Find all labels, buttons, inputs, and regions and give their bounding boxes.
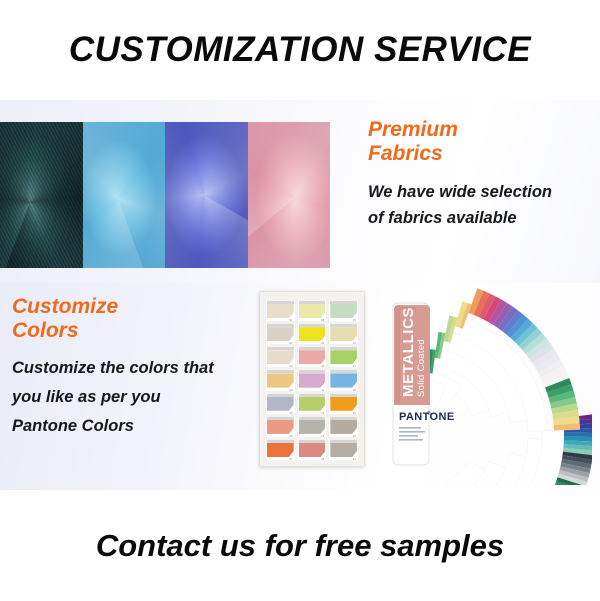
color-chip-code: 15 (353, 319, 356, 322)
customize-colors-heading-line2: Colors (12, 319, 262, 343)
color-chip-code: 21 (353, 458, 356, 461)
color-chip-code: 16 (353, 342, 356, 345)
color-chip-fill (299, 397, 326, 411)
color-chip-fill (330, 373, 357, 387)
color-chip-tab (330, 324, 357, 327)
color-chip-tab (267, 440, 294, 443)
color-chip-code: 17 (353, 365, 356, 368)
color-chip-code: 19 (353, 412, 356, 415)
color-chip[interactable]: 16 (329, 324, 358, 344)
color-chip[interactable]: 08 (298, 301, 327, 321)
color-chip-fill (299, 350, 326, 364)
color-chip[interactable]: 21 (329, 440, 358, 460)
color-chip-tab (267, 370, 294, 373)
color-chip-code: 01 (290, 319, 293, 322)
color-chip[interactable]: 06 (266, 417, 295, 437)
dark-teal-fabric-image (0, 122, 83, 268)
color-chip-fill (299, 420, 326, 434)
page-title: CUSTOMIZATION SERVICE (69, 30, 531, 70)
color-chip-code: 04 (290, 389, 293, 392)
fabric-swatch-strip (0, 122, 330, 268)
color-chip-fill (330, 304, 357, 318)
color-chip-fill (267, 443, 294, 457)
color-chip-tab (267, 324, 294, 327)
color-chip-tab (299, 301, 326, 304)
light-blue-fabric-image (83, 122, 166, 268)
pantone-fan-deck: METALLICS Solid Coated PANTONE ® PANTONE (378, 285, 592, 485)
color-chip[interactable]: 12 (298, 394, 327, 414)
page-footer: Contact us for free samples (0, 490, 600, 601)
pantone-color-card: 0108150209160310170411180512190613200714… (259, 291, 365, 467)
color-chip-tab (267, 394, 294, 397)
page-header: CUSTOMIZATION SERVICE (0, 0, 600, 100)
color-chip-code: 09 (321, 342, 324, 345)
premium-fabrics-body-line2: of fabrics available (368, 205, 592, 232)
customize-colors-body: Customize the colors that you like as pe… (12, 354, 262, 442)
premium-fabrics-panel: Premium Fabrics We have wide selection o… (0, 100, 600, 283)
color-chip[interactable]: 17 (329, 347, 358, 367)
color-chip-tab (330, 417, 357, 420)
color-chip[interactable]: 14 (298, 440, 327, 460)
color-chip-code: 13 (321, 435, 324, 438)
color-chip-code: 05 (290, 412, 293, 415)
fan-deck-cover-title: METALLICS (400, 307, 417, 397)
fan-deck-cover-code: PANTONE (400, 307, 417, 311)
color-chip-fill (267, 350, 294, 364)
contact-cta-text: Contact us for free samples (96, 528, 504, 564)
color-chip-code: 02 (290, 342, 293, 345)
color-chip-fill (299, 304, 326, 318)
color-chip-fill (330, 397, 357, 411)
color-chip-tab (330, 440, 357, 443)
color-chip-fill (330, 420, 357, 434)
color-chip-tab (299, 347, 326, 350)
color-chip[interactable]: 07 (266, 440, 295, 460)
fan-deck-brand-mark: ® (427, 410, 431, 417)
color-chip-tab (299, 324, 326, 327)
color-chip-tab (299, 394, 326, 397)
color-chip[interactable]: 10 (298, 347, 327, 367)
color-chip-tab (299, 370, 326, 373)
color-chip-tab (267, 347, 294, 350)
color-chip-tab (267, 417, 294, 420)
color-chip-fill (299, 373, 326, 387)
color-chip-fill (267, 397, 294, 411)
color-chip[interactable]: 04 (266, 370, 295, 390)
premium-fabrics-heading: Premium Fabrics (368, 118, 592, 167)
color-chip-fill (299, 443, 326, 457)
color-chip-code: 11 (321, 389, 324, 392)
color-chip-tab (267, 301, 294, 304)
color-chip-fill (267, 327, 294, 341)
premium-fabrics-heading-line1: Premium (368, 118, 592, 142)
color-chip-tab (330, 301, 357, 304)
color-chip[interactable]: 15 (329, 301, 358, 321)
color-chip-fill (267, 304, 294, 318)
color-chip[interactable]: 01 (266, 301, 295, 321)
premium-fabrics-body: We have wide selection of fabrics availa… (368, 179, 592, 232)
color-chip[interactable]: 19 (329, 394, 358, 414)
customize-colors-body-line3: Pantone Colors (12, 412, 262, 441)
color-chip-tab (330, 370, 357, 373)
color-chip[interactable]: 09 (298, 324, 327, 344)
color-chip-tab (299, 417, 326, 420)
color-chip[interactable]: 13 (298, 417, 327, 437)
color-chip-tab (330, 394, 357, 397)
premium-fabrics-body-line1: We have wide selection (368, 179, 592, 206)
color-chip-fill (267, 373, 294, 387)
color-chip-fill (330, 350, 357, 364)
color-chip-code: 10 (321, 365, 324, 368)
color-chip-code: 03 (290, 365, 293, 368)
color-chip-code: 06 (290, 435, 293, 438)
color-chip-code: 08 (321, 319, 324, 322)
color-chip-code: 20 (353, 435, 356, 438)
premium-fabrics-heading-line2: Fabrics (368, 142, 592, 166)
color-chip[interactable]: 18 (329, 370, 358, 390)
color-chip[interactable]: 05 (266, 394, 295, 414)
customize-colors-heading-line1: Customize (12, 295, 262, 319)
color-chip[interactable]: 02 (266, 324, 295, 344)
customize-colors-body-line2: you like as per you (12, 383, 262, 412)
color-chip[interactable]: 11 (298, 370, 327, 390)
color-chip-code: 14 (321, 458, 324, 461)
color-chip-fill (267, 420, 294, 434)
color-chip-code: 18 (353, 389, 356, 392)
customize-colors-body-line1: Customize the colors that (12, 354, 262, 383)
color-chip-code: 12 (321, 412, 324, 415)
color-chip-fill (330, 443, 357, 457)
blush-pink-fabric-image (248, 122, 331, 268)
premium-fabrics-copy: Premium Fabrics We have wide selection o… (368, 118, 592, 232)
color-chip-code: 07 (290, 458, 293, 461)
customize-colors-heading: Customize Colors (12, 295, 262, 344)
fan-deck-cover-subtitle: Solid Coated (416, 339, 427, 397)
color-chip-tab (299, 440, 326, 443)
color-chip-fill (330, 327, 357, 341)
color-chip-fill (299, 327, 326, 341)
color-chip[interactable]: 03 (266, 347, 295, 367)
color-chip[interactable]: 20 (329, 417, 358, 437)
customize-colors-copy: Customize Colors Customize the colors th… (12, 295, 262, 442)
color-chip-tab (330, 347, 357, 350)
customize-colors-panel: Customize Colors Customize the colors th… (0, 283, 600, 490)
periwinkle-fabric-image (165, 122, 248, 268)
